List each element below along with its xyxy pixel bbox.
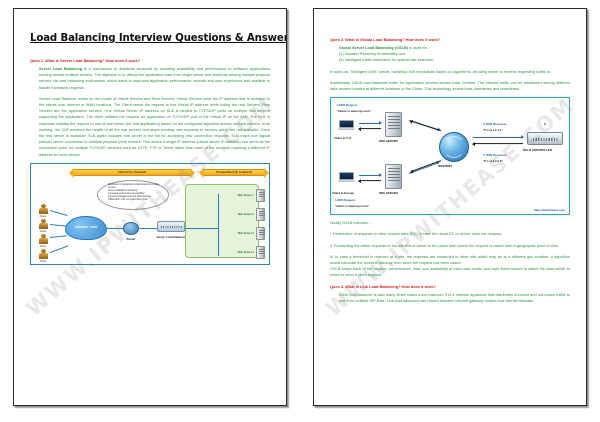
arrow-clientus-to-dns1 — [359, 123, 381, 124]
dns-response-5-title: 5. DNS Response — [483, 154, 507, 158]
web-server-row-1: Web Server 1 — [199, 189, 265, 202]
cloud-label: INTERNET / WAN — [75, 226, 97, 229]
arrow-dns1-to-clientus — [359, 128, 381, 129]
client-label-1: Client — [37, 215, 49, 218]
page-title: Load Balancing Interview Questions & Ans… — [30, 33, 270, 44]
client-label-4: Client — [37, 260, 49, 263]
benefits-list: Distribution of application workload acr… — [104, 184, 166, 203]
document-viewer: WWW.IPWITHEASE.COM Load Balancing Interv… — [0, 0, 600, 422]
gslb-include-item-1: i. Redirection of requests to other clos… — [330, 231, 570, 237]
client-head-icon — [41, 219, 46, 223]
question-3-paragraph: A link load balancer is also many times … — [330, 292, 570, 304]
dns-request-1-title: 1.DNS Request — [337, 104, 357, 108]
dns-server-1-label: DNS SERVER — [379, 139, 398, 143]
dns-server-slots-icon — [388, 168, 400, 169]
question-2-heading: Ques 2. What is Global Load Balancing? H… — [330, 37, 570, 43]
router-icon — [123, 222, 139, 235]
dns-server-1-icon — [385, 112, 402, 137]
link-client3-cloud — [50, 235, 67, 238]
laptop-base-icon — [338, 180, 355, 182]
arrow-internet-to-dns2 — [411, 160, 441, 172]
gslb-include-item-2: ii. Forwarding the visitor requests to t… — [330, 243, 570, 249]
benefit-item-5: Offload from SSL encryption/decryption — [108, 199, 166, 202]
client-body-icon — [39, 223, 48, 229]
router-label: Router — [119, 237, 143, 241]
dns-response-5-text: "It's at 2.2.2.2" — [483, 159, 503, 163]
web-server-row-2: Web Server 2 — [199, 208, 265, 221]
dns-server-slots-icon — [388, 116, 400, 117]
gslb-include-item-3: iii. In case a threshold is reached at a… — [330, 254, 570, 266]
client-head-icon — [41, 204, 46, 208]
client-body-icon — [39, 253, 48, 259]
gslb-includes-closing: GSLB keeps track of the location, perfor… — [330, 266, 570, 278]
link-client4-cloud — [50, 245, 68, 252]
band-private-to-real-ip: Private/Client IP to Real IP — [203, 169, 265, 176]
client-head-icon — [41, 234, 46, 238]
dns-server-2-label: DNS SERVER — [379, 191, 398, 195]
internet-wan-cloud-icon: INTERNET / WAN — [65, 216, 107, 240]
web-server-row-3: Web Server 3 — [199, 227, 265, 240]
page-wrapper-left: WWW.IPWITHEASE.COM Load Balancing Interv… — [0, 0, 300, 422]
diagram-source-url[interactable]: https://ipwithease.com — [534, 208, 565, 212]
client-icon-4: Client — [37, 249, 49, 263]
web-server-label-2: Web Server 2 — [238, 213, 254, 216]
link-router-slb — [138, 228, 158, 229]
arrow-clienteu-to-dns2 — [359, 175, 381, 176]
page-2-content: Ques 2. What is Global Load Balancing? H… — [314, 9, 586, 405]
gslb-lead-tail: is used for - — [408, 46, 429, 50]
client-body-icon — [39, 238, 48, 244]
gslb-controller-icon — [527, 132, 563, 145]
marker-2-label: 2. — [544, 122, 547, 126]
question-2-paragraph-2: Additionally, GSLB load balances traffic… — [330, 80, 570, 92]
question-1-paragraph-1: Server Load Balancing is a mechanism to … — [30, 66, 270, 91]
web-server-icon-2 — [256, 208, 265, 221]
page-1-content: Load Balancing Interview Questions & Ans… — [14, 9, 286, 405]
web-server-icon-1 — [256, 189, 265, 202]
client-label-2: Client — [37, 230, 49, 233]
arrow-internet-to-dns1 — [410, 120, 441, 131]
client-icon-3: Client — [37, 234, 49, 248]
dns-request-2-title: 1.DNS Request — [335, 199, 355, 203]
document-page-2[interactable]: WWW.IPWITHEASE.COM Ques 2. What is Globa… — [313, 8, 587, 406]
client-body-icon — [39, 208, 48, 214]
internet-globe-icon — [439, 132, 469, 162]
benefits-callout-bubble: Distribution of application workload acr… — [97, 180, 169, 210]
web-server-label-3: Web Server 3 — [238, 232, 254, 235]
document-page-1[interactable]: WWW.IPWITHEASE.COM Load Balancing Interv… — [13, 8, 287, 406]
question-3-heading: Ques 3. What is Link Load Balancing? How… — [330, 284, 570, 290]
laptop-screen-icon — [339, 172, 354, 180]
link-cloud-router — [106, 228, 124, 229]
global-load-balancing-diagram: 1.DNS Request "where is www.xyz.com" Cli… — [330, 97, 570, 215]
client-us-laptop-icon — [339, 120, 356, 131]
server-load-balancing-diagram: Client IP to Virtual IP Private/Client I… — [30, 163, 270, 265]
dns-response-3-text: "It's at 1.1.1.1" — [483, 128, 503, 132]
gslb-lead-bold: Global Server Load Balancing (GSLB) — [339, 46, 408, 50]
link-client1-cloud — [50, 210, 68, 216]
client-head-icon — [41, 249, 46, 253]
client-us-label: Client in U.S — [334, 136, 351, 140]
dns-request-2-text: "where is www.xyz.com" — [335, 204, 369, 208]
web-server-icon-3 — [256, 227, 265, 240]
dns-server-2-icon — [385, 164, 402, 189]
gslb-controller-label: GSLB CONTROLLER — [523, 148, 552, 152]
laptop-screen-icon — [339, 120, 354, 128]
client-europe-label: Client in Europe — [332, 191, 354, 195]
internet-label: INTERNET — [438, 164, 452, 168]
question-1-heading: Ques 1. What is Server Load Balancing? H… — [30, 58, 270, 64]
client-icon-1: Client — [37, 204, 49, 218]
client-icon-2: Client — [37, 219, 49, 233]
client-europe-laptop-icon — [339, 172, 356, 183]
gslb-includes-heading: Ideally GSLB includes: - — [330, 220, 570, 226]
laptop-base-icon — [338, 128, 355, 130]
web-server-label-4: Web Server 4 — [238, 251, 254, 254]
web-server-row-4: Web Server 4 — [199, 246, 265, 259]
page-wrapper-right: WWW.IPWITHEASE.COM Ques 2. What is Globa… — [300, 0, 600, 422]
dns-request-1-text: "where is www.xyz.com" — [337, 109, 371, 113]
question-1-paragraph-2: Server Load Balancer works on the model … — [30, 96, 270, 158]
web-server-icon-4 — [256, 246, 265, 259]
arrow-dns2-to-clienteu — [359, 180, 381, 181]
client-label-3: Client — [37, 245, 49, 248]
arrow-gslb-to-internet — [473, 143, 523, 144]
question-1-lead: Server Load Balancing — [39, 67, 82, 71]
server-load-balancer-icon — [157, 221, 185, 232]
arrow-internet-to-gslb — [473, 137, 523, 138]
question-2-bullet-2: (2) Intelligent traffic redirection for … — [330, 57, 570, 63]
band-client-to-virtual-ip: Client IP to Virtual IP — [73, 169, 191, 176]
web-server-label-1: Web Server 1 — [238, 194, 254, 197]
dns-response-3-title: 3. DNS Response — [483, 123, 507, 127]
question-2-paragraph-1: It works as "Intelligent DNS" server, ha… — [330, 69, 570, 75]
